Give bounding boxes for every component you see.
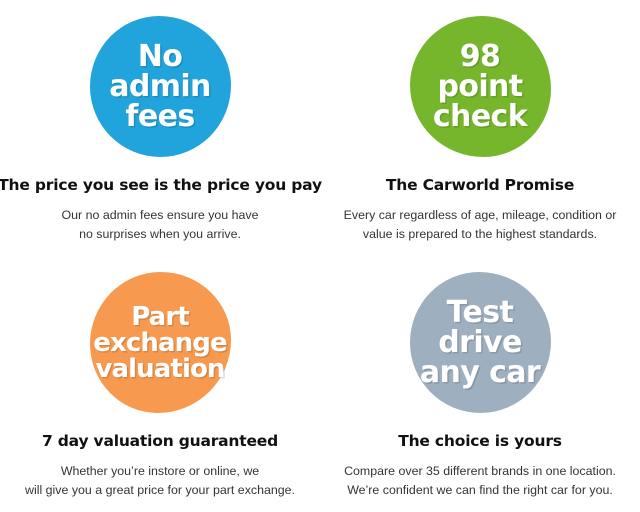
badge-text-part-exchange-valuation: Part exchange valuation [93, 304, 226, 382]
benefit-heading-98-point-check: The Carworld Promise [386, 176, 574, 194]
badge-line: exchange [93, 330, 226, 356]
badge-circle-part-exchange-valuation: Part exchange valuation [90, 272, 231, 413]
badge-text-no-admin-fees: No admin fees [109, 42, 211, 132]
badge-circle-98-point-check: 98 point check [410, 16, 551, 157]
badge-line: Test [420, 298, 540, 328]
badge-line: point [433, 72, 527, 102]
benefit-body-part-exchange-valuation: Whether you’re instore or online, we wil… [25, 462, 295, 500]
benefit-card-no-admin-fees: No admin fees The price you see is the p… [0, 0, 320, 256]
badge-line: drive [420, 328, 540, 358]
benefit-heading-test-drive-any-car: The choice is yours [398, 432, 562, 450]
badge-line: No [109, 42, 211, 72]
body-line: no surprises when you arrive. [62, 225, 259, 244]
benefit-card-test-drive-any-car: Test drive any car The choice is yours C… [320, 256, 640, 512]
benefit-body-98-point-check: Every car regardless of age, mileage, co… [344, 206, 617, 244]
badge-line: any car [420, 358, 540, 388]
body-line: will give you a great price for your par… [25, 481, 295, 500]
body-line: Whether you’re instore or online, we [25, 462, 295, 481]
badge-line: check [433, 102, 527, 132]
body-line: Compare over 35 different brands in one … [344, 462, 616, 481]
benefit-heading-no-admin-fees: The price you see is the price you pay [0, 176, 322, 194]
benefit-body-test-drive-any-car: Compare over 35 different brands in one … [344, 462, 616, 500]
badge-line: admin [109, 72, 211, 102]
badge-line: valuation [93, 356, 226, 382]
benefit-body-no-admin-fees: Our no admin fees ensure you have no sur… [62, 206, 259, 244]
body-line: Our no admin fees ensure you have [62, 206, 259, 225]
body-line: Every car regardless of age, mileage, co… [344, 206, 617, 225]
badge-line: Part [93, 304, 226, 330]
benefit-card-part-exchange-valuation: Part exchange valuation 7 day valuation … [0, 256, 320, 512]
benefits-grid: No admin fees The price you see is the p… [0, 0, 640, 512]
benefit-card-98-point-check: 98 point check The Carworld Promise Ever… [320, 0, 640, 256]
badge-circle-test-drive-any-car: Test drive any car [410, 272, 551, 413]
badge-circle-no-admin-fees: No admin fees [90, 16, 231, 157]
body-line: value is prepared to the highest standar… [344, 225, 617, 244]
badge-line: 98 [433, 42, 527, 72]
benefit-heading-part-exchange-valuation: 7 day valuation guaranteed [42, 432, 278, 450]
body-line: We’re confident we can find the right ca… [344, 481, 616, 500]
badge-text-98-point-check: 98 point check [433, 42, 527, 132]
badge-line: fees [109, 102, 211, 132]
badge-text-test-drive-any-car: Test drive any car [420, 298, 540, 388]
